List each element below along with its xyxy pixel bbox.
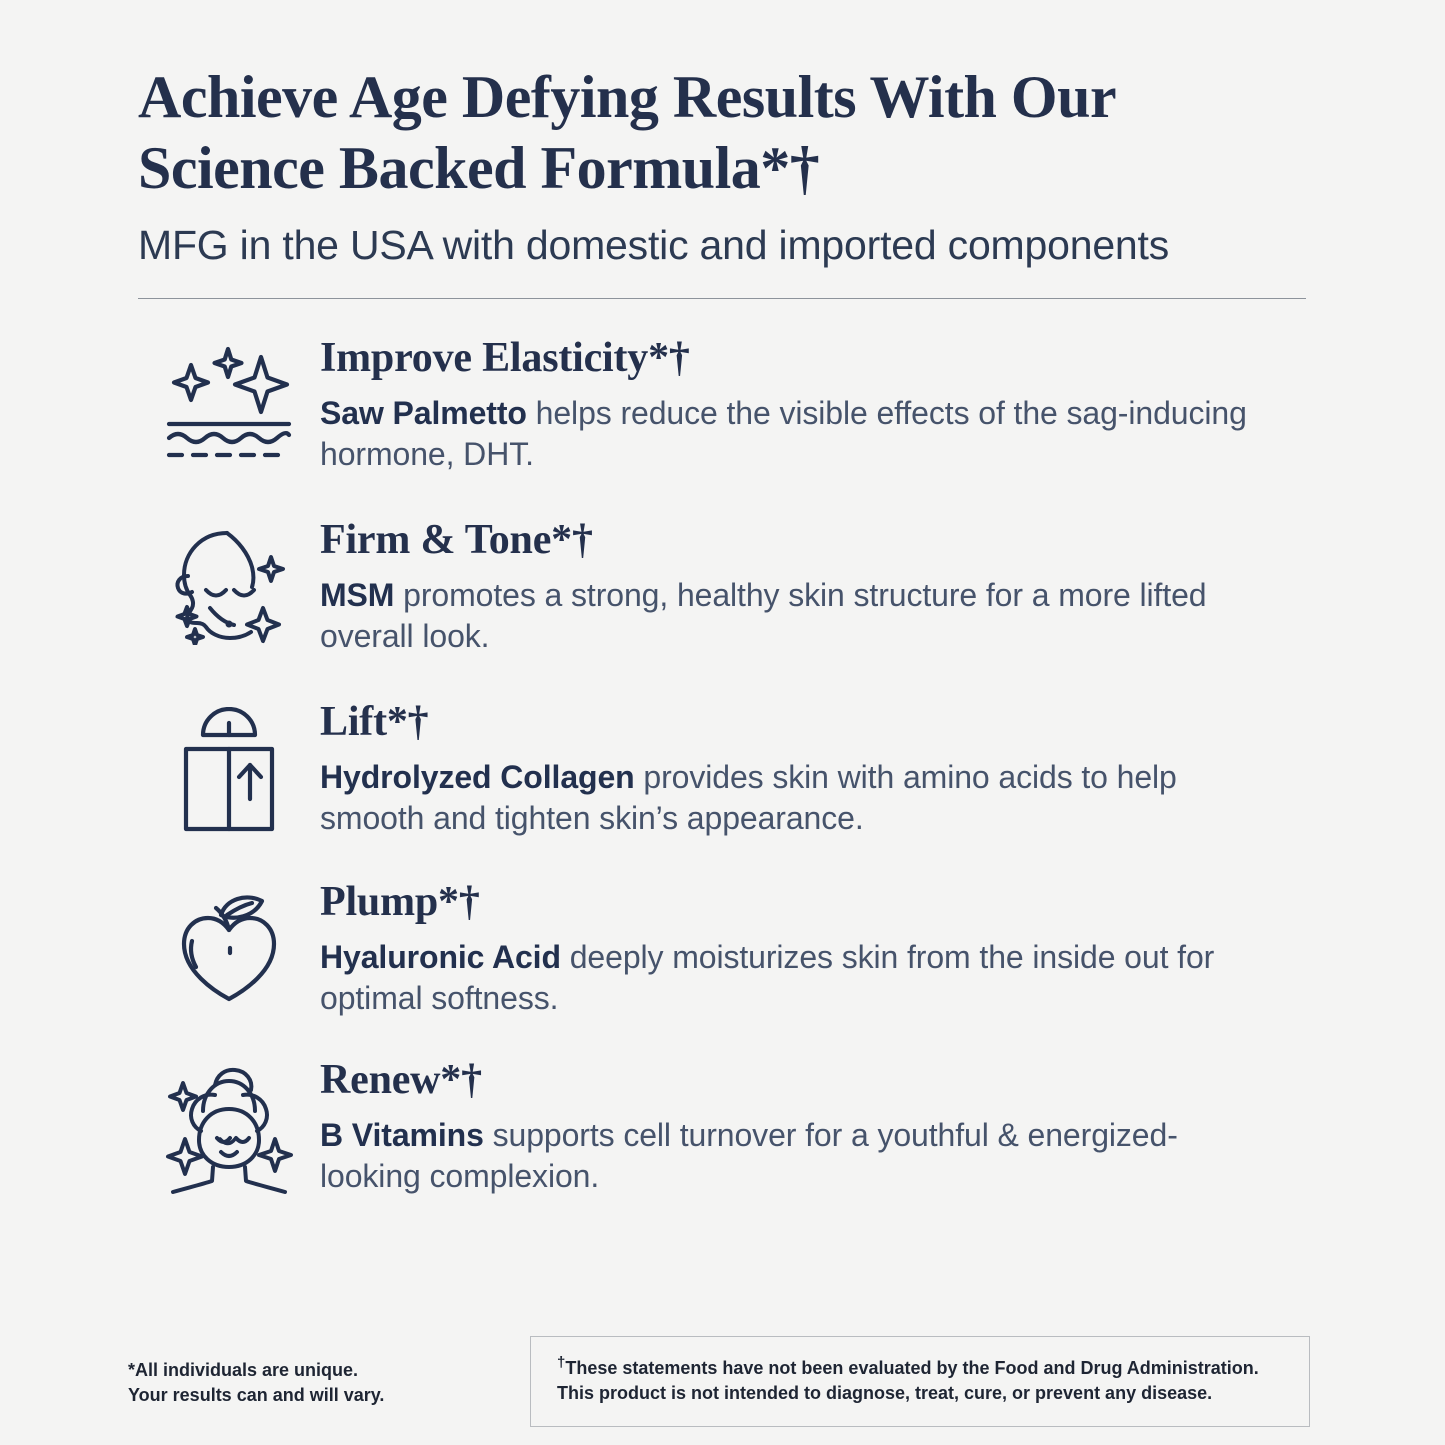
footer: *All individuals are unique. Your result… [128, 1336, 1318, 1427]
page-subtitle: MFG in the USA with domestic and importe… [138, 220, 1308, 270]
feature-text: Firm & Tone*† MSM promotes a strong, hea… [320, 515, 1318, 657]
ingredient-name: Saw Palmetto [320, 395, 527, 431]
feature-text: Plump*† Hyaluronic Acid deeply moisturiz… [320, 877, 1318, 1019]
header-divider [138, 298, 1306, 299]
feature-item-firm-and-tone: Firm & Tone*† MSM promotes a strong, hea… [138, 515, 1318, 657]
peach-icon [138, 877, 320, 1009]
feature-text: Lift*† Hydrolyzed Collagen provides skin… [320, 697, 1318, 839]
feature-description: Saw Palmetto helps reduce the visible ef… [320, 393, 1250, 475]
feature-description: B Vitamins supports cell turnover for a … [320, 1115, 1250, 1197]
page-title: Achieve Age Defying Results With Our Sci… [138, 62, 1258, 204]
feature-description: Hydrolyzed Collagen provides skin with a… [320, 757, 1250, 839]
fda-disclaimer-line2: This product is not intended to diagnose… [557, 1381, 1285, 1406]
fda-disclaimer-line1: †These statements have not been evaluate… [557, 1356, 1285, 1381]
feature-item-renew: Renew*† B Vitamins supports cell turnove… [138, 1055, 1318, 1197]
ingredient-benefit: promotes a strong, healthy skin structur… [320, 577, 1207, 654]
header: Achieve Age Defying Results With Our Sci… [138, 62, 1308, 270]
feature-title: Renew*† [320, 1055, 1318, 1105]
sparkles-over-skin-layers-icon [138, 333, 320, 463]
feature-text: Renew*† B Vitamins supports cell turnove… [320, 1055, 1318, 1197]
feature-list: Improve Elasticity*† Saw Palmetto helps … [138, 333, 1318, 1197]
woman-towel-wrap-sparkle-icon [138, 1055, 320, 1195]
feature-item-plump: Plump*† Hyaluronic Acid deeply moisturiz… [138, 877, 1318, 1019]
feature-text: Improve Elasticity*† Saw Palmetto helps … [320, 333, 1318, 475]
feature-title: Lift*† [320, 697, 1318, 747]
feature-description: MSM promotes a strong, healthy skin stru… [320, 575, 1250, 657]
product-benefits-infographic: Achieve Age Defying Results With Our Sci… [0, 0, 1445, 1445]
results-disclaimer-line2: Your results can and will vary. [128, 1383, 528, 1408]
feature-title: Plump*† [320, 877, 1318, 927]
ingredient-name: MSM [320, 577, 394, 613]
fda-disclaimer-text1: These statements have not been evaluated… [565, 1358, 1258, 1378]
ingredient-name: Hydrolyzed Collagen [320, 759, 635, 795]
results-disclaimer: *All individuals are unique. Your result… [128, 1356, 528, 1408]
feature-title: Improve Elasticity*† [320, 333, 1318, 383]
feature-title: Firm & Tone*† [320, 515, 1318, 565]
face-profile-sparkle-icon [138, 515, 320, 645]
ingredient-name: Hyaluronic Acid [320, 939, 561, 975]
feature-item-lift: Lift*† Hydrolyzed Collagen provides skin… [138, 697, 1318, 839]
ingredient-name: B Vitamins [320, 1117, 484, 1153]
fda-disclaimer-box: †These statements have not been evaluate… [530, 1336, 1310, 1427]
results-disclaimer-line1: *All individuals are unique. [128, 1358, 528, 1383]
feature-item-improve-elasticity: Improve Elasticity*† Saw Palmetto helps … [138, 333, 1318, 475]
feature-description: Hyaluronic Acid deeply moisturizes skin … [320, 937, 1250, 1019]
elevator-up-arrow-icon [138, 697, 320, 833]
